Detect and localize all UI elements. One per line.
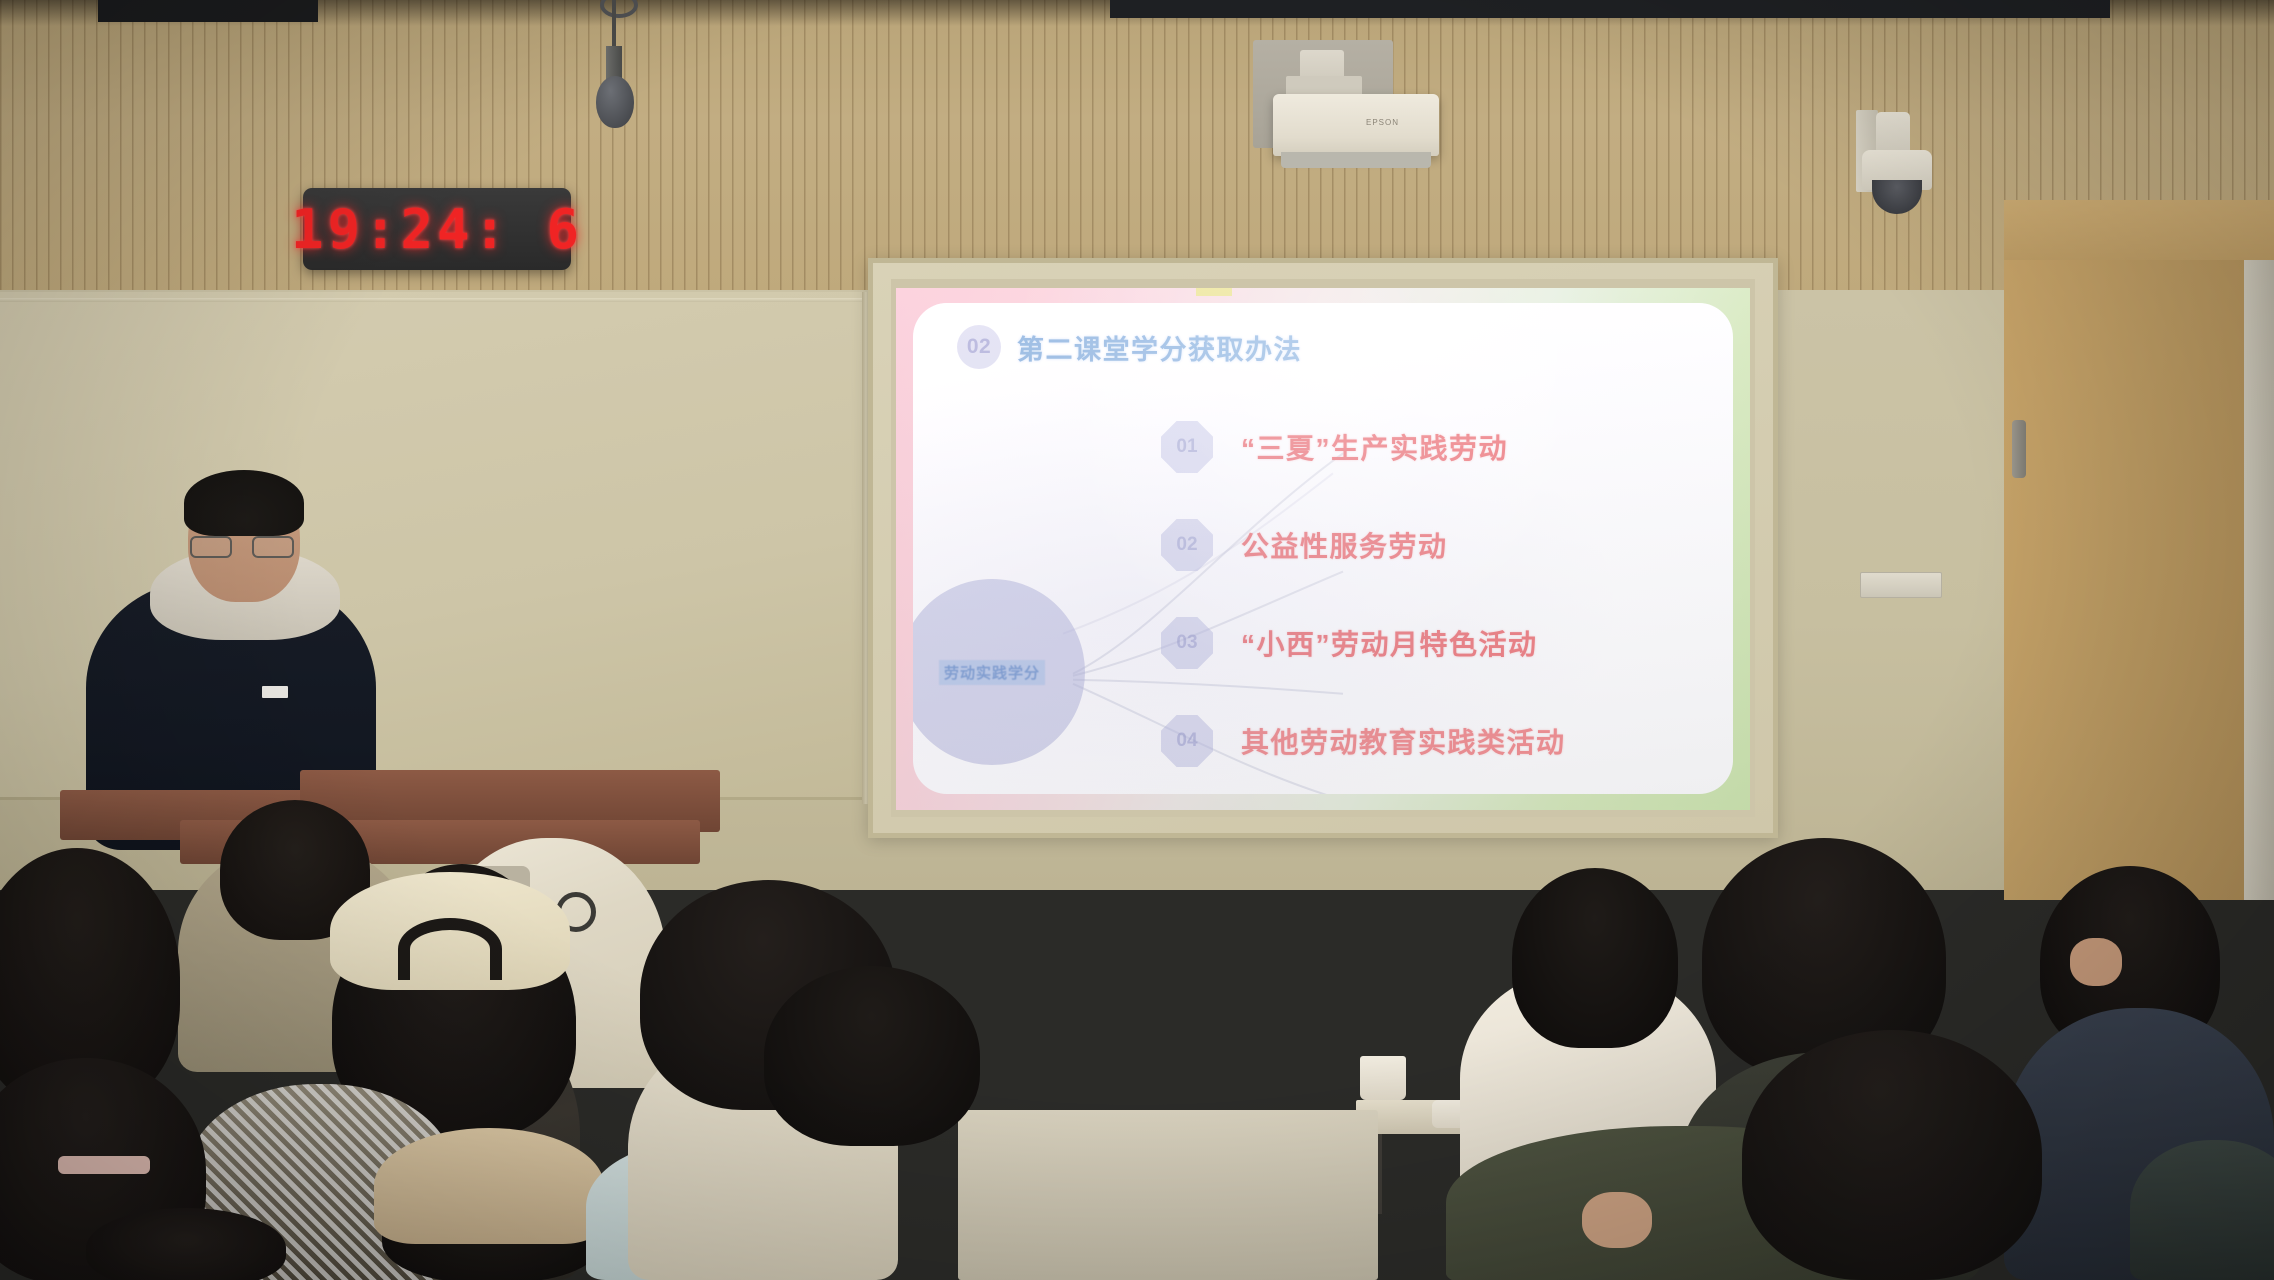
student-12-hand: [2070, 938, 2122, 986]
paper-cup-right: [1360, 1056, 1406, 1100]
door-side-wall: [2244, 260, 2274, 900]
student-9-head: [1512, 868, 1678, 1048]
slide-list-item: 04 其他劳动教育实践类活动: [1161, 715, 1721, 767]
classroom-door[interactable]: [2004, 200, 2274, 900]
projector-icon: [1273, 94, 1439, 156]
clock-time-display: 19:24: 6: [291, 198, 583, 261]
student-13-head: [1742, 1030, 2042, 1280]
slide-item-number: 04: [1161, 715, 1213, 767]
screen-sticky-tab: [1196, 288, 1232, 296]
slide-section-badge: 02: [957, 325, 1001, 369]
slide-title-row: 02 第二课堂学分获取办法: [957, 325, 1302, 369]
slide-list-item: 02 公益性服务劳动: [1161, 519, 1721, 571]
projected-slide: 02 第二课堂学分获取办法 劳动实践学分 01 “三夏”生产实践劳动 02 公益…: [896, 288, 1750, 810]
classroom-scene: 19:24: 6 EPSON: [0, 0, 2274, 1280]
mindmap-center-node: 劳动实践学分: [913, 579, 1085, 765]
desk-panel-centre: [958, 1110, 1378, 1280]
slide-title: 第二课堂学分获取办法: [1017, 328, 1302, 367]
slide-item-list: 01 “三夏”生产实践劳动 02 公益性服务劳动 03 “小西”劳动月特色活动 …: [1161, 421, 1721, 794]
student-14-hairclip-icon: [58, 1156, 150, 1174]
projector-brand-label: EPSON: [1366, 118, 1399, 127]
student-3-cap-strap: [398, 918, 502, 980]
slide-card: 02 第二课堂学分获取办法 劳动实践学分 01 “三夏”生产实践劳动 02 公益…: [913, 303, 1733, 794]
slide-item-text: “小西”劳动月特色活动: [1241, 623, 1538, 663]
projector-base: [1281, 152, 1431, 168]
ceiling-recess-left: [98, 0, 318, 22]
lecturer-chest-logo: [262, 686, 288, 698]
slide-item-text: 其他劳动教育实践类活动: [1241, 721, 1566, 761]
slide-item-text: “三夏”生产实践劳动: [1241, 427, 1508, 467]
door-handle-icon[interactable]: [2012, 420, 2026, 478]
student-16-coat: [2130, 1140, 2274, 1280]
slide-item-text: 公益性服务劳动: [1241, 525, 1448, 565]
student-15-hair: [86, 1208, 286, 1280]
lecturer-glasses-icon: [190, 536, 298, 558]
microphone-icon: [596, 76, 634, 128]
student-aisle-hair: [764, 966, 980, 1146]
slide-item-number: 02: [1161, 519, 1213, 571]
mindmap-center-label: 劳动实践学分: [939, 660, 1045, 685]
slide-list-item: 01 “三夏”生产实践劳动: [1161, 421, 1721, 473]
lecturer-hair: [184, 470, 304, 536]
slide-list-item: 03 “小西”劳动月特色活动: [1161, 617, 1721, 669]
student-7-beanie: [374, 1128, 604, 1244]
slide-item-number: 01: [1161, 421, 1213, 473]
student-11-hand: [1582, 1192, 1652, 1248]
slide-item-number: 03: [1161, 617, 1213, 669]
mindmap-connectors: [913, 303, 1733, 794]
wall-outlet-plate: [1860, 572, 1942, 598]
wall-clock: 19:24: 6: [303, 188, 571, 270]
door-transom: [2004, 200, 2274, 260]
ceiling-recess-right: [1110, 0, 2110, 18]
